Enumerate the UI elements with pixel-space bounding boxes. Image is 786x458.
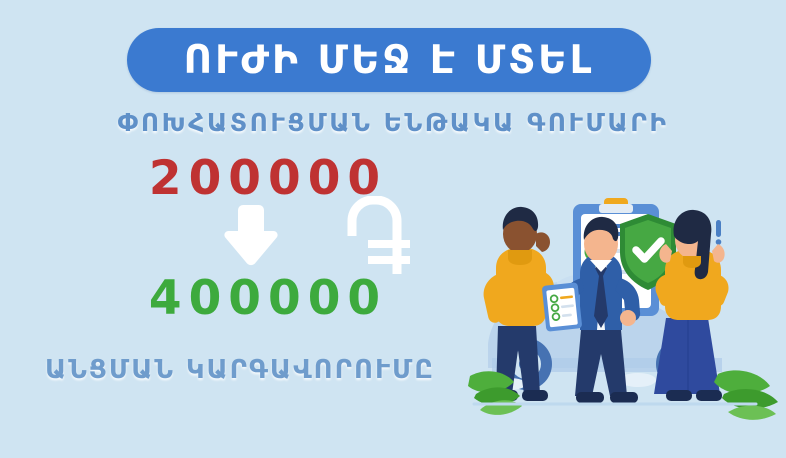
- title-banner: ՈՒԺԻ ՄԵՋ Է ՄՏԵԼ: [127, 28, 651, 92]
- subtitle-text: ՓՈԽՀԱՏՈՒՑՄԱՆ ԵՆԹԱԿԱ ԳՈՒՄԱՐԻ: [0, 108, 786, 137]
- small-clipboard: [542, 282, 583, 332]
- dram-currency-icon: [344, 196, 410, 274]
- title-text: ՈՒԺԻ ՄԵՋ Է ՄՏԵԼ: [184, 41, 595, 80]
- new-amount-value: 400000: [118, 275, 418, 322]
- insurance-people-illustration: [452, 168, 786, 430]
- arrow-down-icon: [222, 203, 280, 267]
- old-amount-value: 200000: [118, 155, 418, 202]
- caption-text: ԱՆՑՄԱՆ ԿԱՐԳԱՎՈՐՈՒՄԸ: [20, 355, 460, 385]
- poster-canvas: ՈՒԺԻ ՄԵՋ Է ՄՏԵԼ ՓՈԽՀԱՏՈՒՑՄԱՆ ԵՆԹԱԿԱ ԳՈՒՄ…: [0, 0, 786, 458]
